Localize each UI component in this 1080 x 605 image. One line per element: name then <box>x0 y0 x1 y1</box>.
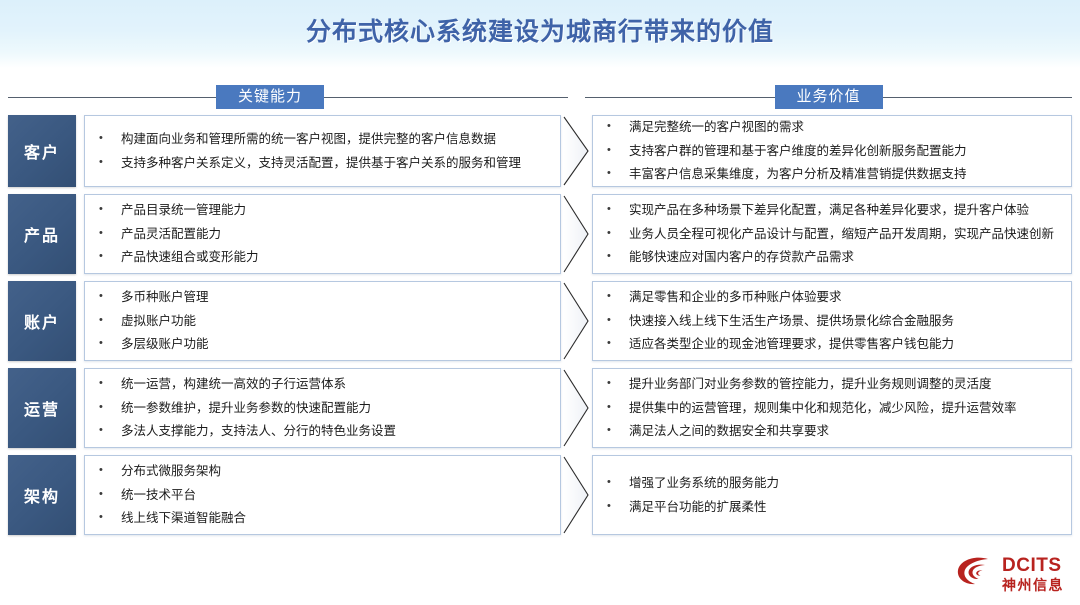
bullet-item: •满足完整统一的客户视图的需求 <box>607 115 1061 139</box>
matrix-row: 产品•产品目录统一管理能力•产品灵活配置能力•产品快速组合或变形能力•实现产品在… <box>0 194 1080 274</box>
bullet-item: •快速接入线上线下生活生产场景、提供场景化综合金融服务 <box>607 309 1061 333</box>
matrix-rows: 客户•构建面向业务和管理所需的统一客户视图，提供完整的客户信息数据•支持多种客户… <box>0 115 1080 542</box>
bullet-text: 多层级账户功能 <box>121 336 550 353</box>
bullet-dot-icon: • <box>99 249 121 265</box>
bullet-item: •统一运营，构建统一高效的子行运营体系 <box>99 372 550 396</box>
bullet-item: •提供集中的运营管理，规则集中化和规范化，减少风险，提升运营效率 <box>607 396 1061 420</box>
bullet-text: 实现产品在多种场景下差异化配置，满足各种差异化要求，提升客户体验 <box>629 202 1061 219</box>
header-rule-right-2 <box>883 97 1073 98</box>
bullet-dot-icon: • <box>99 376 121 392</box>
capability-panel: •分布式微服务架构•统一技术平台•线上线下渠道智能融合 <box>84 455 561 535</box>
row-label-5[interactable]: 架构 <box>8 455 76 535</box>
bullet-dot-icon: • <box>99 202 121 218</box>
bullet-dot-icon: • <box>99 155 121 171</box>
arrow-chevron-icon <box>562 281 592 361</box>
bullet-dot-icon: • <box>607 400 629 416</box>
bullet-text: 能够快速应对国内客户的存贷款产品需求 <box>629 249 1061 266</box>
bullet-item: •满足平台功能的扩展柔性 <box>607 495 1061 519</box>
bullet-item: •支持多种客户关系定义，支持灵活配置，提供基于客户关系的服务和管理 <box>99 151 550 175</box>
arrow-chevron-icon <box>562 115 592 187</box>
header-rule-left <box>8 97 216 98</box>
bullet-text: 统一运营，构建统一高效的子行运营体系 <box>121 376 550 393</box>
bullet-item: •多法人支撑能力，支持法人、分行的特色业务设置 <box>99 420 550 444</box>
capability-panel: •构建面向业务和管理所需的统一客户视图，提供完整的客户信息数据•支持多种客户关系… <box>84 115 561 187</box>
row-label-1[interactable]: 客户 <box>8 115 76 187</box>
bullet-dot-icon: • <box>607 166 629 182</box>
bullet-dot-icon: • <box>607 499 629 515</box>
bullet-text: 多法人支撑能力，支持法人、分行的特色业务设置 <box>121 423 550 440</box>
bullet-item: •分布式微服务架构 <box>99 459 550 483</box>
bullet-item: •满足法人之间的数据安全和共享要求 <box>607 420 1061 444</box>
bullet-item: •统一参数维护，提升业务参数的快速配置能力 <box>99 396 550 420</box>
bullet-item: •虚拟账户功能 <box>99 309 550 333</box>
capabilities-badge: 关键能力 <box>216 85 324 110</box>
bullet-dot-icon: • <box>99 510 121 526</box>
bullet-dot-icon: • <box>99 463 121 479</box>
bullet-text: 支持客户群的管理和基于客户维度的差异化创新服务配置能力 <box>629 143 1061 160</box>
row-label-4[interactable]: 运营 <box>8 368 76 448</box>
bullet-item: •多层级账户功能 <box>99 333 550 357</box>
arrow-chevron-icon <box>562 455 592 535</box>
column-headers: 关键能力 业务价值 <box>0 83 1080 111</box>
bullet-text: 统一技术平台 <box>121 487 550 504</box>
bullet-dot-icon: • <box>99 289 121 305</box>
bullet-item: •丰富客户信息采集维度，为客户分析及精准营销提供数据支持 <box>607 163 1061 187</box>
arrow-chevron-icon <box>562 368 592 448</box>
logo-cn-text: 神州信息 <box>1002 578 1064 592</box>
bullet-dot-icon: • <box>99 336 121 352</box>
bullet-text: 提供集中的运营管理，规则集中化和规范化，减少风险，提升运营效率 <box>629 400 1061 417</box>
header-rule-left-2 <box>585 97 775 98</box>
bullet-dot-icon: • <box>607 249 629 265</box>
slide-canvas: 分布式核心系统建设为城商行带来的价值 关键能力 业务价值 客户•构建面向业务和管… <box>0 0 1080 605</box>
bullet-dot-icon: • <box>607 289 629 305</box>
matrix-row: 运营•统一运营，构建统一高效的子行运营体系•统一参数维护，提升业务参数的快速配置… <box>0 368 1080 448</box>
bullet-item: •产品灵活配置能力 <box>99 222 550 246</box>
bullet-text: 提升业务部门对业务参数的管控能力，提升业务规则调整的灵活度 <box>629 376 1061 393</box>
arrow-chevron-icon <box>562 194 592 274</box>
page-title: 分布式核心系统建设为城商行带来的价值 <box>0 12 1080 48</box>
bullet-item: •适应各类型企业的现金池管理要求，提供零售客户钱包能力 <box>607 333 1061 357</box>
matrix-row: 客户•构建面向业务和管理所需的统一客户视图，提供完整的客户信息数据•支持多种客户… <box>0 115 1080 187</box>
business-value-panel: •满足零售和企业的多币种账户体验要求•快速接入线上线下生活生产场景、提供场景化综… <box>592 281 1072 361</box>
bullet-text: 业务人员全程可视化产品设计与配置，缩短产品开发周期，实现产品快速创新 <box>629 226 1061 243</box>
business-value-panel: •实现产品在多种场景下差异化配置，满足各种差异化要求，提升客户体验•业务人员全程… <box>592 194 1072 274</box>
bullet-text: 统一参数维护，提升业务参数的快速配置能力 <box>121 400 550 417</box>
bullet-dot-icon: • <box>607 119 629 135</box>
bullet-text: 适应各类型企业的现金池管理要求，提供零售客户钱包能力 <box>629 336 1061 353</box>
bullet-dot-icon: • <box>607 143 629 159</box>
bullet-text: 丰富客户信息采集维度，为客户分析及精准营销提供数据支持 <box>629 166 1061 183</box>
capability-panel: •多币种账户管理•虚拟账户功能•多层级账户功能 <box>84 281 561 361</box>
matrix-row: 架构•分布式微服务架构•统一技术平台•线上线下渠道智能融合•增强了业务系统的服务… <box>0 455 1080 535</box>
bullet-item: •实现产品在多种场景下差异化配置，满足各种差异化要求，提升客户体验 <box>607 198 1061 222</box>
bullet-item: •多币种账户管理 <box>99 285 550 309</box>
bullet-dot-icon: • <box>99 423 121 439</box>
bullet-dot-icon: • <box>99 400 121 416</box>
bullet-text: 支持多种客户关系定义，支持灵活配置，提供基于客户关系的服务和管理 <box>121 155 550 172</box>
capability-panel: •统一运营，构建统一高效的子行运营体系•统一参数维护，提升业务参数的快速配置能力… <box>84 368 561 448</box>
bullet-dot-icon: • <box>607 336 629 352</box>
bullet-item: •满足零售和企业的多币种账户体验要求 <box>607 285 1061 309</box>
bullet-dot-icon: • <box>99 131 121 147</box>
bullet-text: 满足平台功能的扩展柔性 <box>629 499 1061 516</box>
bullet-item: •提升业务部门对业务参数的管控能力，提升业务规则调整的灵活度 <box>607 372 1061 396</box>
logo-en-text: DCITS <box>1002 556 1064 575</box>
bullet-dot-icon: • <box>607 226 629 242</box>
bullet-dot-icon: • <box>607 423 629 439</box>
bullet-dot-icon: • <box>607 475 629 491</box>
bullet-item: •构建面向业务和管理所需的统一客户视图，提供完整的客户信息数据 <box>99 127 550 151</box>
bullet-item: •支持客户群的管理和基于客户维度的差异化创新服务配置能力 <box>607 139 1061 163</box>
column-header-business-value: 业务价值 <box>585 83 1072 111</box>
bullet-text: 线上线下渠道智能融合 <box>121 510 550 527</box>
bullet-dot-icon: • <box>607 376 629 392</box>
matrix-row: 账户•多币种账户管理•虚拟账户功能•多层级账户功能•满足零售和企业的多币种账户体… <box>0 281 1080 361</box>
header-rule-tail <box>532 97 568 98</box>
bullet-item: •产品快速组合或变形能力 <box>99 246 550 270</box>
bullet-text: 满足完整统一的客户视图的需求 <box>629 119 1061 136</box>
bullet-item: •产品目录统一管理能力 <box>99 198 550 222</box>
bullet-item: •统一技术平台 <box>99 483 550 507</box>
bullet-text: 快速接入线上线下生活生产场景、提供场景化综合金融服务 <box>629 313 1061 330</box>
bullet-text: 产品灵活配置能力 <box>121 226 550 243</box>
bullet-text: 多币种账户管理 <box>121 289 550 306</box>
bullet-dot-icon: • <box>99 226 121 242</box>
bullet-text: 构建面向业务和管理所需的统一客户视图，提供完整的客户信息数据 <box>121 131 550 148</box>
logo-wordmark: DCITS 神州信息 <box>1002 556 1064 592</box>
business-value-badge: 业务价值 <box>775 85 883 110</box>
bullet-item: •能够快速应对国内客户的存贷款产品需求 <box>607 246 1061 270</box>
bullet-item: •业务人员全程可视化产品设计与配置，缩短产品开发周期，实现产品快速创新 <box>607 222 1061 246</box>
bullet-dot-icon: • <box>99 487 121 503</box>
bullet-text: 增强了业务系统的服务能力 <box>629 475 1061 492</box>
header-rule-mid <box>324 97 532 98</box>
bullet-text: 满足法人之间的数据安全和共享要求 <box>629 423 1061 440</box>
bullet-text: 满足零售和企业的多币种账户体验要求 <box>629 289 1061 306</box>
bullet-dot-icon: • <box>99 313 121 329</box>
bullet-dot-icon: • <box>607 202 629 218</box>
row-label-3[interactable]: 账户 <box>8 281 76 361</box>
bullet-item: •线上线下渠道智能融合 <box>99 507 550 531</box>
bullet-text: 产品目录统一管理能力 <box>121 202 550 219</box>
bullet-text: 虚拟账户功能 <box>121 313 550 330</box>
business-value-panel: •满足完整统一的客户视图的需求•支持客户群的管理和基于客户维度的差异化创新服务配… <box>592 115 1072 187</box>
company-logo: DCITS 神州信息 <box>955 554 1064 593</box>
row-label-2[interactable]: 产品 <box>8 194 76 274</box>
bullet-text: 产品快速组合或变形能力 <box>121 249 550 266</box>
business-value-panel: •提升业务部门对业务参数的管控能力，提升业务规则调整的灵活度•提供集中的运营管理… <box>592 368 1072 448</box>
bullet-dot-icon: • <box>607 313 629 329</box>
bullet-text: 分布式微服务架构 <box>121 463 550 480</box>
dcits-swirl-icon <box>955 554 995 593</box>
column-header-capabilities: 关键能力 <box>8 83 568 111</box>
business-value-panel: •增强了业务系统的服务能力•满足平台功能的扩展柔性 <box>592 455 1072 535</box>
capability-panel: •产品目录统一管理能力•产品灵活配置能力•产品快速组合或变形能力 <box>84 194 561 274</box>
bullet-item: •增强了业务系统的服务能力 <box>607 471 1061 495</box>
